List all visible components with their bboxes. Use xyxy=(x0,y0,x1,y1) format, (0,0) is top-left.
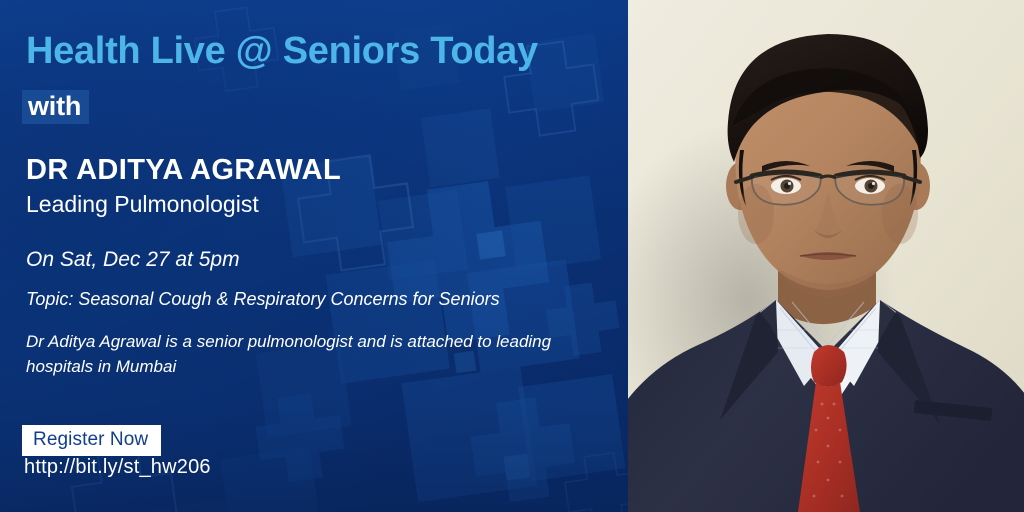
event-datetime: On Sat, Dec 27 at 5pm xyxy=(26,248,240,271)
doctor-name: DR ADITYA AGRAWAL xyxy=(26,155,341,187)
page-title: Health Live @ Seniors Today xyxy=(26,32,538,72)
doctor-bio: Dr Aditya Agrawal is a senior pulmonolog… xyxy=(26,330,566,379)
event-topic: Topic: Seasonal Cough & Respiratory Conc… xyxy=(26,290,500,310)
registration-url[interactable]: http://bit.ly/st_hw206 xyxy=(24,456,211,479)
with-label: with xyxy=(28,91,81,121)
panel-content: Health Live @ Seniors Today with DR ADIT… xyxy=(0,0,628,512)
doctor-role: Leading Pulmonologist xyxy=(26,192,259,217)
with-highlight: with xyxy=(22,90,89,124)
left-info-panel: Health Live @ Seniors Today with DR ADIT… xyxy=(0,0,628,512)
register-now-button[interactable]: Register Now xyxy=(22,425,161,456)
health-live-banner: Health Live @ Seniors Today with DR ADIT… xyxy=(0,0,1024,512)
doctor-portrait-photo xyxy=(628,0,1024,512)
register-now-label: Register Now xyxy=(33,429,148,450)
